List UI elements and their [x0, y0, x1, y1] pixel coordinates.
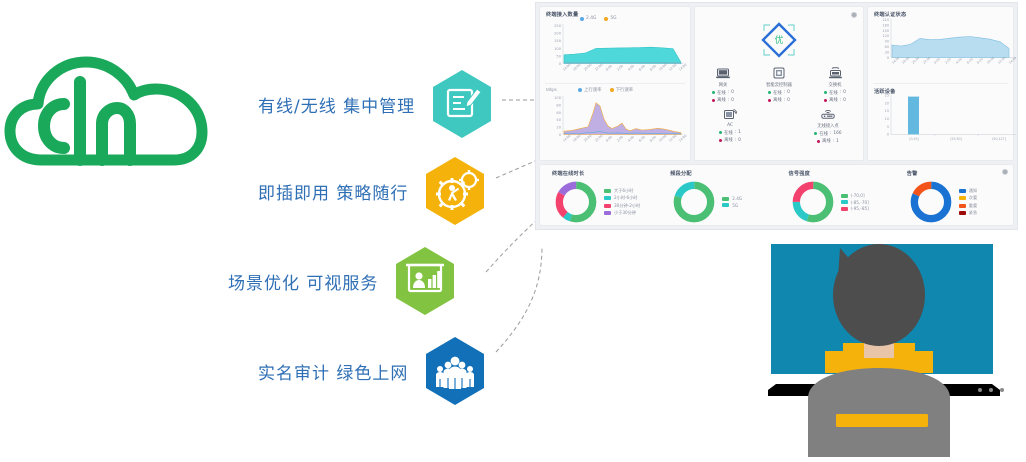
device-name: 网关 — [699, 82, 747, 88]
svg-text:0: 0 — [887, 56, 889, 60]
legend-item: (-85,-70] — [841, 200, 869, 205]
score-badge-text: 优 — [774, 34, 783, 46]
donut-chart — [672, 180, 716, 224]
legend-item: 2小时-6小时 — [604, 195, 640, 201]
svg-text:120: 120 — [883, 34, 889, 38]
svg-text:20:00: 20:00 — [583, 134, 593, 143]
svg-text:22:00: 22:00 — [594, 134, 604, 143]
device-status-grid: 网关 在线: 0 离线: 0 — [695, 65, 863, 147]
svg-text:12:00: 12:00 — [668, 63, 678, 72]
svg-text:8:00: 8:00 — [649, 64, 657, 72]
donut-title: 信号强度 — [789, 170, 811, 177]
person-at-monitor-illustration — [768, 238, 1000, 457]
svg-text:2:00: 2:00 — [944, 57, 952, 65]
svg-text:4:00: 4:00 — [955, 57, 963, 65]
smart-controller-icon — [755, 65, 803, 81]
legend-item: 5G — [722, 203, 742, 208]
switch-icon — [811, 65, 859, 81]
device-offline: 离线: 0 — [706, 137, 754, 143]
svg-text:250: 250 — [554, 24, 562, 28]
donut-chart — [554, 180, 598, 224]
body-shoulders — [808, 368, 950, 457]
svg-text:60: 60 — [885, 45, 889, 49]
feature-label-3: 场景优化 可视服务 — [228, 269, 378, 294]
device-online: 在线: 166 — [804, 131, 852, 137]
svg-text:4:00: 4:00 — [627, 64, 635, 72]
dashboard-top-row: 终端接入数量 2.4G 5G 250200150 100500 — [539, 6, 1014, 161]
legend-item: 30分钟-2小时 — [604, 203, 640, 209]
svg-text:18:00: 18:00 — [572, 134, 582, 143]
feature-row-1[interactable]: 有线/无线 集中管理 — [258, 68, 495, 140]
card-device-status[interactable]: 优 网关 — [694, 6, 864, 161]
svg-text:20: 20 — [885, 101, 889, 105]
svg-text:100: 100 — [554, 47, 562, 51]
donut-alarm[interactable]: 告警 通知 次要 重要 紧急 — [895, 165, 1013, 225]
svg-text:14:00: 14:00 — [678, 63, 688, 72]
feature-row-4[interactable]: 实名审计 绿色上网 — [258, 335, 488, 407]
svg-text:30: 30 — [885, 50, 889, 54]
donut-legend: 2.4G 5G — [722, 196, 742, 208]
device-online: 在线: 0 — [755, 90, 803, 96]
donut-chart — [909, 180, 953, 224]
feature-label-1: 有线/无线 集中管理 — [258, 92, 415, 117]
feature-label-4: 实名审计 绿色上网 — [258, 359, 408, 384]
svg-text:25: 25 — [885, 94, 889, 98]
svg-text:10:00: 10:00 — [658, 63, 668, 72]
device-ac[interactable]: AC 在线: 1 离线: 0 — [706, 106, 754, 144]
device-smart-controller[interactable]: 智能云控制器 在线: 0 离线: 0 — [755, 65, 803, 103]
decorative-dots — [978, 388, 1004, 392]
svg-text:0:00: 0:00 — [933, 57, 941, 65]
people-group-icon — [422, 335, 488, 407]
device-gateway[interactable]: 网关 在线: 0 离线: 0 — [699, 65, 747, 103]
chart-terminal-access-count: 终端接入数量 2.4G 5G 250200150 100500 — [540, 7, 690, 83]
legend-item: 重要 — [959, 203, 977, 209]
svg-text:50: 50 — [556, 54, 561, 58]
svg-text:90: 90 — [885, 40, 889, 44]
svg-text:(50,127]: (50,127] — [992, 137, 1006, 141]
wireless-ap-icon — [804, 106, 852, 122]
presentation-chart-person-icon — [392, 245, 458, 317]
donut-band-allocation[interactable]: 频段分配 2.4G 5G — [658, 165, 776, 225]
legend-item: 次要 — [959, 195, 977, 201]
device-switch[interactable]: 交换机 在线: 0 离线: 0 — [811, 65, 859, 103]
svg-text:6:00: 6:00 — [966, 57, 974, 65]
legend-item: (-70,0] — [841, 193, 869, 198]
svg-text:8:00: 8:00 — [649, 135, 657, 143]
legend-item: 2.4G — [722, 196, 742, 201]
legend-item: 通知 — [959, 188, 977, 194]
svg-text:14:00: 14:00 — [562, 63, 572, 72]
svg-text:18:00: 18:00 — [572, 63, 582, 72]
dashboard-donut-row: 终端在线时长 大于6小时 2小时-6小时 30分钟-2小时 小于30分钟 — [539, 164, 1014, 226]
chart-active-device: 活跃设备 252015 1050 (0,25] (25,50] (50,127] — [868, 84, 1013, 160]
svg-text:0: 0 — [559, 133, 562, 137]
device-name: 无线接入点 — [804, 123, 852, 129]
svg-text:(25,50]: (25,50] — [950, 137, 962, 141]
gear-worker-icon — [422, 155, 488, 227]
device-name: 交换机 — [811, 82, 859, 88]
device-row-2: AC 在线: 1 离线: 0 — [695, 106, 863, 144]
svg-text:0: 0 — [559, 62, 562, 66]
gear-icon[interactable] — [850, 11, 858, 19]
donut-legend: 大于6小时 2小时-6小时 30分钟-2小时 小于30分钟 — [604, 188, 640, 217]
device-name: 智能云控制器 — [755, 82, 803, 88]
svg-text:200: 200 — [554, 32, 562, 36]
svg-text:40: 40 — [556, 118, 561, 122]
svg-text:80: 80 — [556, 103, 561, 107]
document-pen-icon — [429, 68, 495, 140]
ac-icon — [706, 106, 754, 122]
dot — [989, 388, 993, 392]
illustration-stage: 有线/无线 集中管理 即插即用 策略随行 — [0, 0, 1026, 457]
svg-text:2:00: 2:00 — [616, 64, 624, 72]
dashboard-panel: 终端接入数量 2.4G 5G 250200150 100500 — [535, 2, 1018, 230]
svg-text:6:00: 6:00 — [638, 135, 646, 143]
feature-row-3[interactable]: 场景优化 可视服务 — [228, 245, 458, 317]
svg-text:14:00: 14:00 — [562, 134, 572, 143]
svg-text:0: 0 — [887, 133, 889, 137]
device-online: 在线: 1 — [706, 130, 754, 136]
feature-row-2[interactable]: 即插即用 策略随行 — [258, 155, 488, 227]
svg-text:60: 60 — [556, 111, 561, 115]
shirt-stripe — [836, 414, 928, 427]
svg-text:150: 150 — [554, 39, 562, 43]
svg-text:12:00: 12:00 — [668, 134, 678, 143]
donut-title: 告警 — [907, 170, 918, 177]
feature-label-2: 即插即用 策略随行 — [258, 179, 408, 204]
chart-uplink-downlink-rate: Mbps 上行速率 下行速率 1008060 40200 — [540, 84, 690, 160]
svg-text:15: 15 — [885, 109, 889, 113]
donut-title: 终端在线时长 — [552, 170, 584, 177]
svg-text:210: 210 — [883, 18, 889, 22]
card-auth-and-active[interactable]: 终端认证状态 210180150 1209060 300 14:00 18:00 — [867, 6, 1014, 161]
device-online: 在线: 0 — [811, 90, 859, 96]
card-terminal-access[interactable]: 终端接入数量 2.4G 5G 250200150 100500 — [539, 6, 691, 161]
dot — [978, 388, 982, 392]
gateway-icon — [699, 65, 747, 81]
svg-text:(0,25]: (0,25] — [909, 137, 919, 141]
device-wireless-ap[interactable]: 无线接入点 在线: 166 离线: 1 — [804, 106, 852, 144]
svg-text:6:00: 6:00 — [638, 64, 646, 72]
chart-title-terminal-access: 终端接入数量 — [546, 11, 690, 18]
svg-text:0:00: 0:00 — [605, 64, 613, 72]
score-diamond-badge: 优 — [756, 17, 802, 68]
svg-text:10: 10 — [885, 117, 889, 121]
svg-text:20:00: 20:00 — [583, 63, 593, 72]
device-online: 在线: 0 — [699, 90, 747, 96]
device-offline: 离线: 0 — [699, 97, 747, 103]
legend-item: 紧急 — [959, 210, 977, 216]
svg-text:22:00: 22:00 — [594, 63, 604, 72]
svg-text:14:00: 14:00 — [1008, 56, 1017, 65]
donut-chart — [791, 180, 835, 224]
device-row-1: 网关 在线: 0 离线: 0 — [695, 65, 863, 103]
device-offline: 离线: 0 — [811, 97, 859, 103]
legend-item: 小于30分钟 — [604, 210, 640, 216]
donut-signal-strength[interactable]: 信号强度 (-70,0] (-85,-70] (-95,-85] — [777, 165, 895, 225]
svg-text:5: 5 — [887, 125, 889, 129]
legend-item: (-95,-85] — [841, 206, 869, 211]
svg-text:150: 150 — [883, 29, 889, 33]
device-offline: 离线: 1 — [804, 138, 852, 144]
svg-text:100: 100 — [554, 96, 562, 100]
svg-text:4:00: 4:00 — [627, 135, 635, 143]
svg-text:2:00: 2:00 — [616, 135, 624, 143]
svg-text:0:00: 0:00 — [605, 135, 613, 143]
svg-text:10:00: 10:00 — [658, 134, 668, 143]
clm-cloud-logo — [4, 28, 252, 193]
device-name: AC — [706, 123, 754, 128]
donut-terminal-online-duration[interactable]: 终端在线时长 大于6小时 2小时-6小时 30分钟-2小时 小于30分钟 — [540, 165, 658, 225]
chart-terminal-auth-status: 终端认证状态 210180150 1209060 300 14:00 18:00 — [868, 7, 1013, 83]
svg-text:8:00: 8:00 — [976, 57, 984, 65]
svg-text:20: 20 — [556, 126, 561, 130]
legend-item: 大于6小时 — [604, 188, 640, 194]
donut-legend: (-70,0] (-85,-70] (-95,-85] — [841, 193, 869, 211]
svg-text:14:00: 14:00 — [678, 134, 688, 143]
dot — [1000, 388, 1004, 392]
rate-unit-label: Mbps — [546, 87, 557, 92]
donut-title: 频段分配 — [670, 170, 692, 177]
donut-legend: 通知 次要 重要 紧急 — [959, 188, 977, 217]
device-offline: 离线: 0 — [755, 97, 803, 103]
svg-text:180: 180 — [883, 23, 889, 27]
